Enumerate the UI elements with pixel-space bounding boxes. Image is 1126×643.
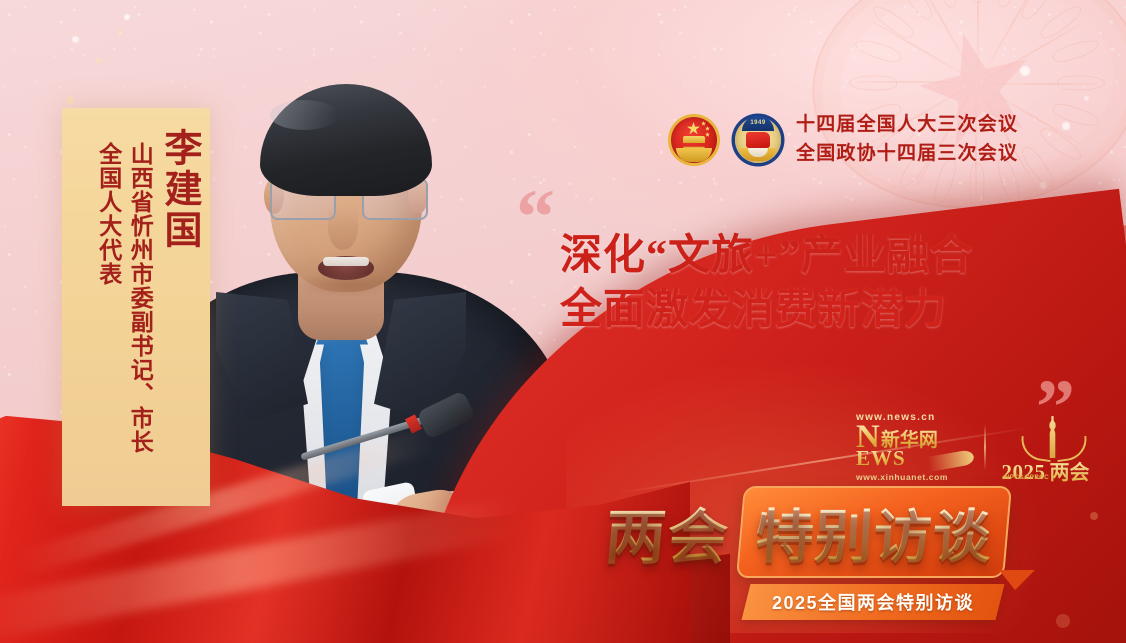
- program-banner: 两会 特别访谈 2025全国两会特别访谈: [606, 486, 1076, 616]
- lianghui-2025-logo[interactable]: 2025 两会 NPC&CPPCC: [1002, 414, 1098, 480]
- sparkle-particle: [1056, 614, 1070, 628]
- lianghui-cn: 两会: [1050, 456, 1090, 485]
- program-title-left: 两会: [602, 489, 744, 576]
- lianghui-year: 2025: [1002, 460, 1046, 485]
- guest-role: 全国人大代表: [96, 142, 119, 286]
- program-title-box: 特别访谈: [736, 486, 1012, 578]
- conference-line-npc: 十四届全国人大三次会议: [796, 113, 1018, 138]
- hair: [260, 84, 432, 196]
- headline-line-1: 深化“文旅+”产业融合: [560, 230, 1080, 284]
- chin-shadow: [296, 272, 396, 298]
- teeth: [323, 257, 369, 266]
- interview-banner-stage: 李建国 山西省忻州市委副书记、市长 全国人大代表 1949 十四届全国人大三次会…: [0, 0, 1126, 643]
- cppcc-emblem-icon: 1949: [732, 112, 784, 168]
- great-hall-star-watermark: [812, 0, 1126, 208]
- program-title-right: 特别访谈: [754, 490, 994, 574]
- lianghui-sub: NPC&CPPCC: [1005, 474, 1050, 481]
- guest-name: 李建国: [159, 128, 198, 251]
- brand-divider: [984, 424, 986, 470]
- national-emblem-icon: [668, 112, 720, 168]
- conference-header: 1949 十四届全国人大三次会议 全国政协十四届三次会议: [668, 112, 1018, 168]
- program-subtitle-bar: 2025全国两会特别访谈: [742, 584, 1005, 620]
- guest-name-columns: 李建国 山西省忻州市委副书记、市长 全国人大代表: [62, 112, 210, 506]
- brand-row: www.news.cn N 新华网 EWS www.xinhuanet.com …: [856, 412, 1098, 482]
- guest-title: 山西省忻州市委副书记、市长: [128, 142, 151, 454]
- xinhua-url-bottom: www.xinhuanet.com: [856, 472, 968, 482]
- program-title: 两会 特别访谈: [606, 486, 1076, 578]
- conference-line-cppcc: 全国政协十四届三次会议: [796, 142, 1018, 167]
- quote-open-mark: “: [516, 190, 551, 245]
- headline-line-2: 全面激发消费新潜力: [560, 284, 1080, 338]
- program-subtitle: 2025全国两会特别访谈: [772, 589, 974, 615]
- cppcc-year: 1949: [744, 119, 772, 127]
- xinhua-logo[interactable]: www.news.cn N 新华网 EWS www.xinhuanet.com: [856, 412, 968, 482]
- conference-names: 十四届全国人大三次会议 全国政协十四届三次会议: [796, 113, 1018, 166]
- sparkle-particle: [1090, 512, 1098, 520]
- headline: 深化“文旅+”产业融合 全面激发消费新潜力: [560, 230, 1080, 338]
